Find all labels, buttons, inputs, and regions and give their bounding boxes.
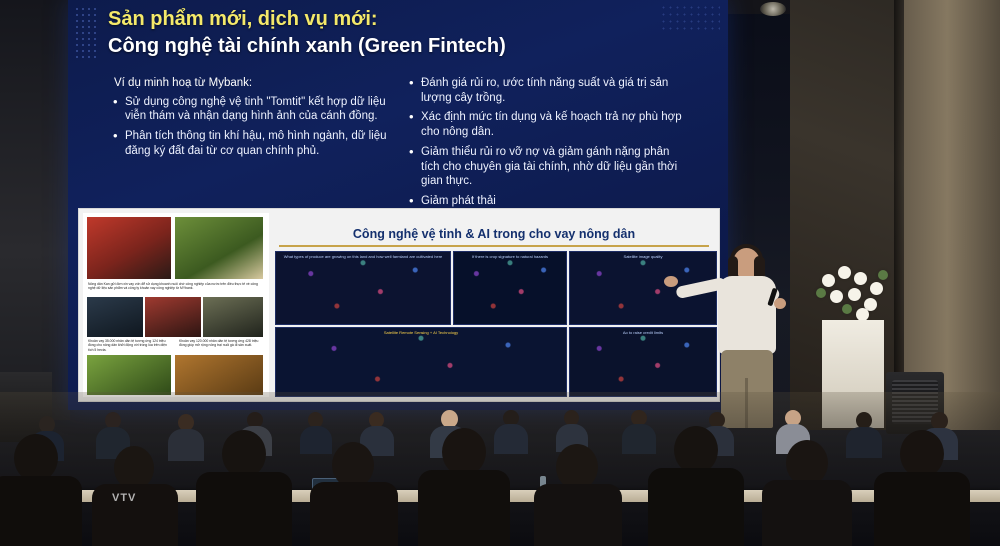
pillar-shadow (894, 0, 904, 430)
slide-title-line2: Công nghệ tài chính xanh (Green Fintech) (108, 33, 708, 60)
hall-pillar (904, 0, 1000, 430)
list-item: Giảm phát thải (408, 194, 684, 209)
tile-label: What types of produce are growing on thi… (276, 254, 450, 259)
speaker-pointing-hand (664, 276, 678, 287)
projection-screen: Sản phẩm mới, dịch vụ mới: Công nghệ tài… (68, 0, 728, 410)
slide-left-column: Ví dụ minh hoạ từ Mybank: Sử dụng công n… (112, 76, 388, 198)
ceiling-spotlight (760, 2, 786, 16)
audience-member-foreground (310, 442, 398, 546)
tile-label: If there is crop signature to natural ha… (454, 254, 566, 259)
audience-member-foreground (874, 430, 970, 546)
audience-area (0, 392, 1000, 546)
slide-body: Ví dụ minh hoạ từ Mybank: Sử dụng công n… (112, 76, 692, 198)
audience-member-foreground (534, 444, 622, 546)
flower-arrangement (812, 262, 896, 324)
audience-member-foreground (196, 430, 292, 546)
slide-right-column: Đánh giá rủi ro, ước tính năng suất và g… (408, 76, 684, 198)
satellite-tile-ai: Satellite Remote Sensing + AI Technology (275, 327, 567, 397)
slide-photo-panel: Công nghệ vệ tinh & AI trong cho vay nôn… (78, 208, 720, 402)
photo-farmer-red (145, 297, 201, 337)
slide-dot-decoration (74, 6, 100, 58)
broadcaster-watermark: VTV (112, 492, 136, 504)
satellite-tile-hazard: If there is crop signature to natural ha… (453, 251, 567, 325)
audience-member-foreground (0, 434, 82, 546)
list-item: Sử dụng công nghệ vệ tinh "Tomtit" kết h… (112, 95, 388, 124)
presentation-slide: Sản phẩm mới, dịch vụ mới: Công nghệ tài… (68, 0, 728, 410)
left-photo-strip: Nông dân Kan gửi đơn xin vay vốn để sử d… (83, 213, 269, 397)
photo-poultry (175, 355, 263, 395)
conference-photo-scene: Sản phẩm mới, dịch vụ mới: Công nghệ tài… (0, 0, 1000, 546)
slide-left-bullet-list: Sử dụng công nghệ vệ tinh "Tomtit" kết h… (112, 95, 388, 159)
satellite-tile-landuse: What types of produce are growing on thi… (275, 251, 451, 325)
list-item: Đánh giá rủi ro, ước tính năng suất và g… (408, 76, 684, 105)
photo-green-crop (87, 355, 171, 395)
list-item: Phân tích thông tin khí hậu, mô hình ngà… (112, 129, 388, 158)
satellite-imagery (276, 252, 450, 324)
left-wall (0, 0, 70, 420)
photo-farm-group (203, 297, 263, 337)
list-item: Giảm thiểu rủi ro vỡ nợ và giảm gánh nặn… (408, 145, 684, 189)
photo-caption: Khoản vay 35.000 nhân dân tệ tương ứng 1… (88, 339, 170, 352)
list-item: Xác định mức tín dụng và kế hoạch trả nợ… (408, 110, 684, 139)
slide-intro-text: Ví dụ minh hoạ từ Mybank: (114, 76, 388, 91)
panel-title: Công nghệ vệ tinh & AI trong cho vay nôn… (279, 227, 709, 241)
photo-hand-field (175, 217, 263, 279)
satellite-imagery (276, 328, 566, 396)
slide-title-line1: Sản phẩm mới, dịch vụ mới: (108, 6, 708, 33)
tile-label: Satellite Remote Sensing + AI Technology (276, 330, 566, 335)
slide-right-bullet-list: Đánh giá rủi ro, ước tính năng suất và g… (408, 76, 684, 209)
photo-phone-app (87, 217, 171, 279)
photo-night-field (87, 297, 143, 337)
photo-caption: Khoản vay 120.000 nhân dân tệ tương ứng … (179, 339, 263, 348)
panel-title-underline (279, 245, 709, 247)
photo-caption: Nông dân Kan gửi đơn xin vay vốn để sử d… (88, 282, 262, 291)
satellite-imagery (454, 252, 566, 324)
slide-title: Sản phẩm mới, dịch vụ mới: Công nghệ tài… (108, 6, 708, 59)
audience-member-foreground (648, 426, 744, 546)
audience-member-foreground (418, 428, 510, 546)
audience-member-foreground (762, 440, 852, 546)
speaker-hand (774, 298, 786, 309)
